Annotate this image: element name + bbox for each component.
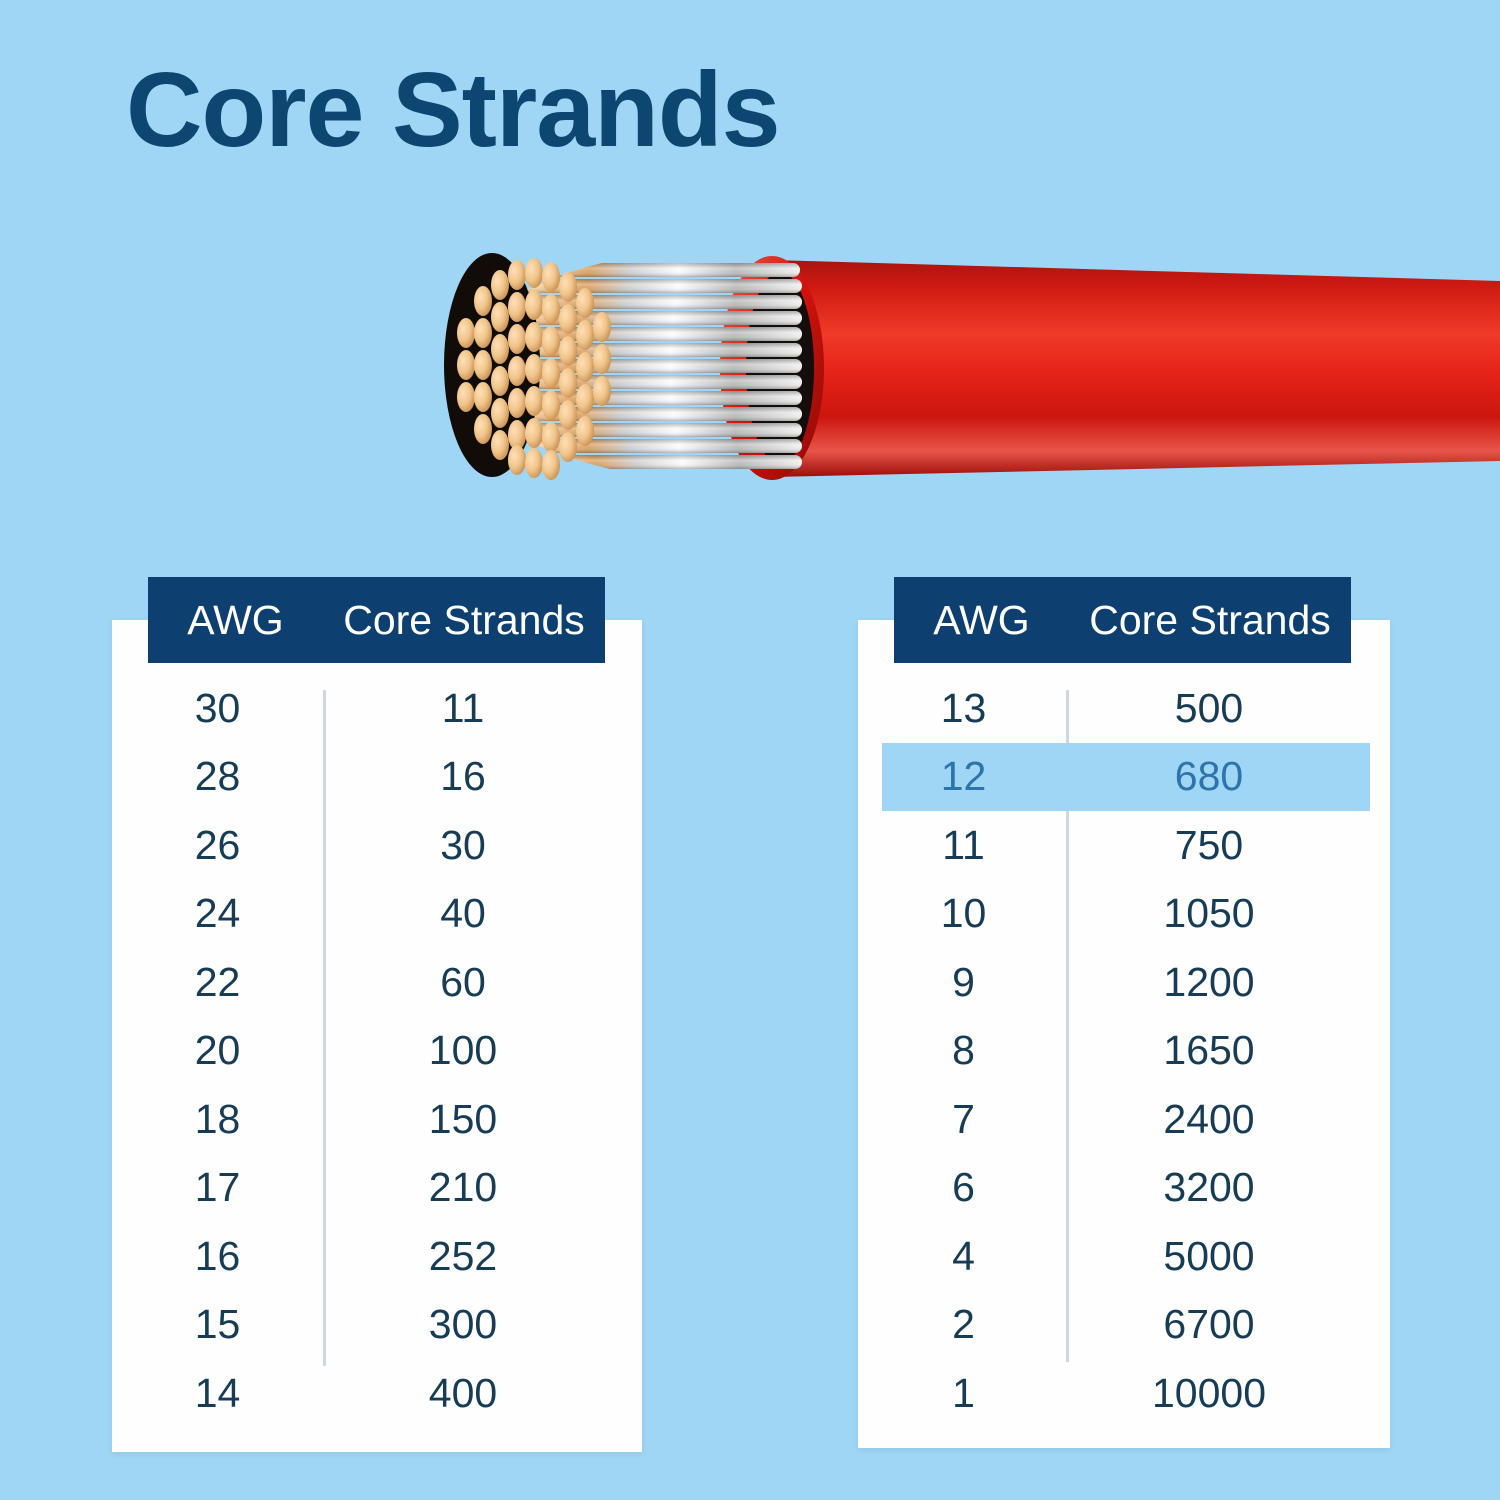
table-row[interactable]: 30 11 (112, 674, 642, 743)
cell-awg: 24 (112, 890, 323, 937)
table-row[interactable]: 16 252 (112, 1222, 642, 1291)
cell-strands: 16 (323, 753, 603, 800)
cell-strands: 300 (323, 1301, 603, 1348)
stranded-wire-illustration (440, 215, 1500, 515)
table-row[interactable]: 2 6700 (858, 1291, 1390, 1360)
wire-svg (440, 215, 1500, 515)
cell-strands: 40 (323, 890, 603, 937)
cell-strands: 1050 (1069, 890, 1349, 937)
wire-strand-bundle (444, 253, 802, 480)
cell-strands: 150 (323, 1096, 603, 1143)
cell-awg: 8 (858, 1027, 1069, 1074)
table-row[interactable]: 6 3200 (858, 1154, 1390, 1223)
cell-strands: 252 (323, 1233, 603, 1280)
cell-awg: 18 (112, 1096, 323, 1143)
column-header-awg: AWG (148, 597, 323, 644)
table-row[interactable]: 14 400 (112, 1359, 642, 1428)
cell-strands: 210 (323, 1164, 603, 1211)
table-body-right: 13 500 12 680 11 750 10 1050 9 1200 8 16… (858, 674, 1390, 1428)
cell-strands: 5000 (1069, 1233, 1349, 1280)
cell-strands: 400 (323, 1370, 603, 1417)
cell-strands: 100 (323, 1027, 603, 1074)
cell-awg: 15 (112, 1301, 323, 1348)
table-row[interactable]: 1 10000 (858, 1359, 1390, 1428)
table-row[interactable]: 7 2400 (858, 1085, 1390, 1154)
cell-strands: 1200 (1069, 959, 1349, 1006)
cell-awg: 28 (112, 753, 323, 800)
cell-awg: 1 (858, 1370, 1069, 1417)
cell-awg: 16 (112, 1233, 323, 1280)
cell-strands: 6700 (1069, 1301, 1349, 1348)
cell-strands: 10000 (1069, 1370, 1349, 1417)
cell-strands: 680 (1069, 753, 1349, 800)
cell-awg: 2 (858, 1301, 1069, 1348)
cell-strands: 11 (323, 685, 603, 732)
core-strands-table-right: AWG Core Strands 13 500 12 680 11 750 10… (858, 620, 1390, 1448)
table-row-highlighted[interactable]: 12 680 (858, 743, 1390, 812)
table-row[interactable]: 15 300 (112, 1291, 642, 1360)
cell-awg: 12 (858, 753, 1069, 800)
table-row[interactable]: 24 40 (112, 880, 642, 949)
column-header-strands: Core Strands (1069, 597, 1351, 644)
table-row[interactable]: 17 210 (112, 1154, 642, 1223)
column-header-strands: Core Strands (323, 597, 605, 644)
cell-awg: 17 (112, 1164, 323, 1211)
table-row[interactable]: 10 1050 (858, 880, 1390, 949)
cell-strands: 2400 (1069, 1096, 1349, 1143)
table-row[interactable]: 20 100 (112, 1017, 642, 1086)
cell-awg: 26 (112, 822, 323, 869)
table-row[interactable]: 26 30 (112, 811, 642, 880)
cell-strands: 60 (323, 959, 603, 1006)
cell-awg: 4 (858, 1233, 1069, 1280)
table-row[interactable]: 13 500 (858, 674, 1390, 743)
cell-strands: 1650 (1069, 1027, 1349, 1074)
table-header-left: AWG Core Strands (148, 577, 605, 663)
table-body-left: 30 11 28 16 26 30 24 40 22 60 20 100 18 … (112, 674, 642, 1428)
cell-awg: 7 (858, 1096, 1069, 1143)
table-row[interactable]: 28 16 (112, 743, 642, 812)
cell-awg: 10 (858, 890, 1069, 937)
cell-strands: 30 (323, 822, 603, 869)
cell-awg: 11 (858, 822, 1069, 869)
table-header-right: AWG Core Strands (894, 577, 1351, 663)
page-title: Core Strands (126, 52, 780, 169)
cell-awg: 9 (858, 959, 1069, 1006)
cell-awg: 13 (858, 685, 1069, 732)
table-row[interactable]: 9 1200 (858, 948, 1390, 1017)
cell-strands: 750 (1069, 822, 1349, 869)
column-header-awg: AWG (894, 597, 1069, 644)
table-row[interactable]: 4 5000 (858, 1222, 1390, 1291)
cell-awg: 30 (112, 685, 323, 732)
table-row[interactable]: 18 150 (112, 1085, 642, 1154)
table-row[interactable]: 11 750 (858, 811, 1390, 880)
table-row[interactable]: 22 60 (112, 948, 642, 1017)
cell-strands: 500 (1069, 685, 1349, 732)
table-row[interactable]: 8 1650 (858, 1017, 1390, 1086)
cell-awg: 14 (112, 1370, 323, 1417)
cell-awg: 20 (112, 1027, 323, 1074)
cell-awg: 6 (858, 1164, 1069, 1211)
cell-strands: 3200 (1069, 1164, 1349, 1211)
core-strands-table-left: AWG Core Strands 30 11 28 16 26 30 24 40… (112, 620, 642, 1452)
cell-awg: 22 (112, 959, 323, 1006)
